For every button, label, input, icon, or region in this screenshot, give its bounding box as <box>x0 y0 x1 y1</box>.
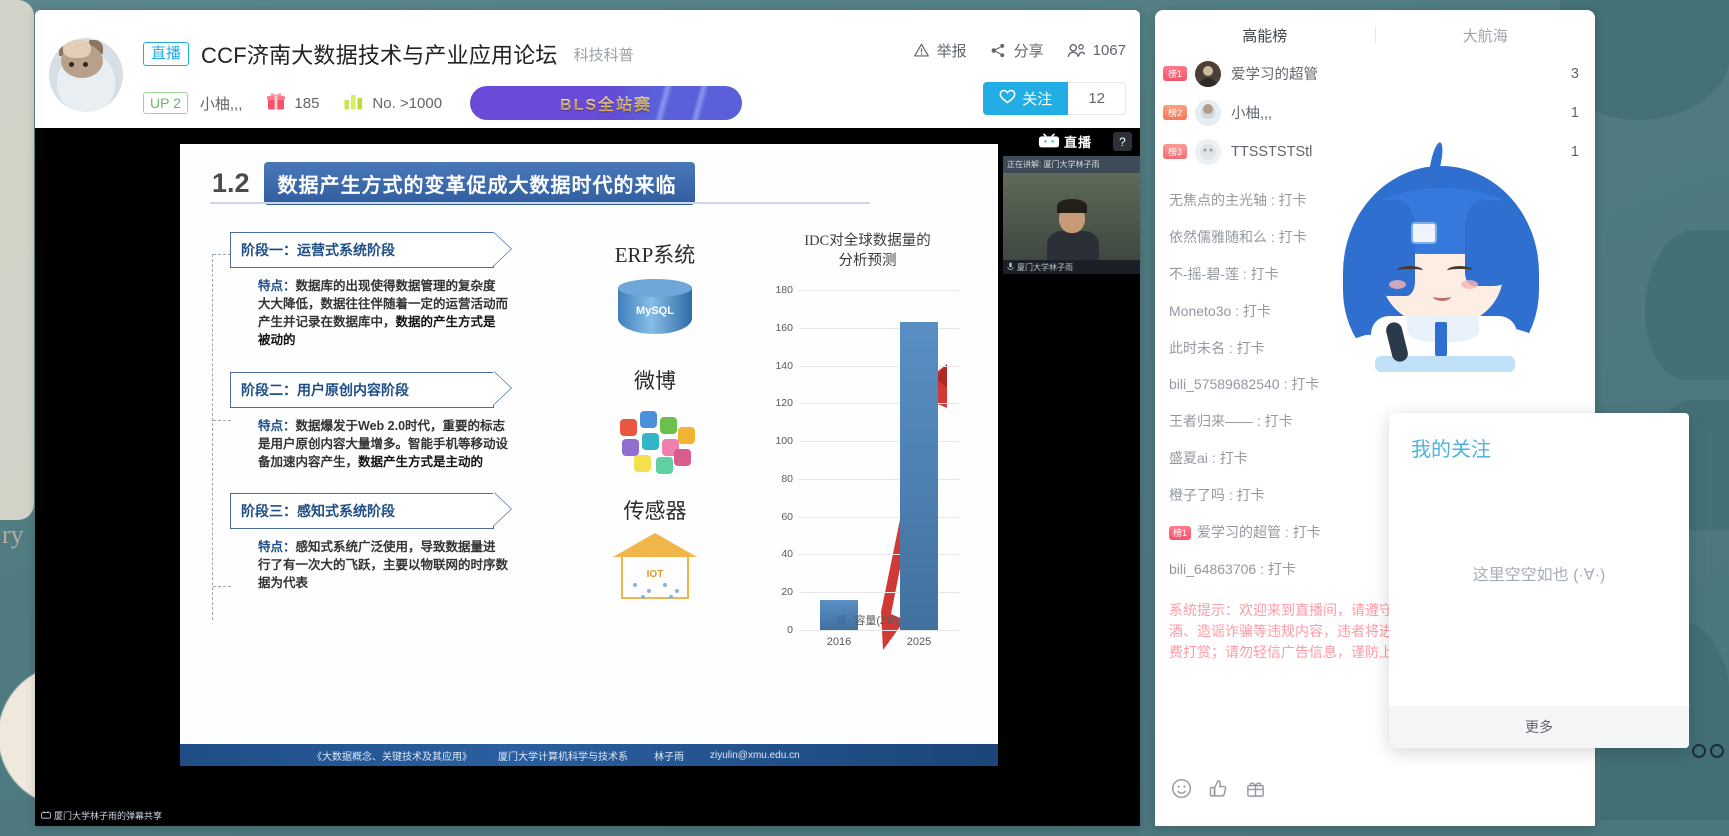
database-label: MySQL <box>618 305 692 317</box>
bilibili-tv-icon <box>1038 133 1060 151</box>
video-player[interactable]: 1.2 数据产生方式的变革促成大数据时代的来临 阶段一：运营式系统阶段 特点：数… <box>35 128 1140 826</box>
stage-chip-prefix: 阶段一： <box>241 242 297 258</box>
rank-tabs: 高能榜 大航海 <box>1155 10 1595 54</box>
chat-text: 打卡 <box>1293 524 1321 540</box>
middle-item-label: 传感器 <box>570 495 740 525</box>
gift-box-icon[interactable] <box>1245 778 1266 804</box>
chart-x-tick: 2025 <box>907 636 931 648</box>
chat-message: bili_57589682540 : 打卡 <box>1169 366 1581 403</box>
bls-campaign-banner[interactable]: BLS全站赛 <box>470 86 742 120</box>
stage-block: 阶段一：运营式系统阶段 特点：数据库的出现使得数据管理的复杂度大大降低，数据往往… <box>230 232 540 350</box>
chart-y-tick: 180 <box>775 284 793 296</box>
chat-user-name[interactable]: 橙子了吗 : <box>1169 487 1237 503</box>
viewer-count: 1067 <box>1066 42 1126 59</box>
chat-user-name[interactable]: 此时未名 : <box>1169 340 1237 356</box>
gift-stat[interactable]: 185 <box>266 92 319 115</box>
chat-user-name[interactable]: 无焦点的主光轴 : <box>1169 192 1279 208</box>
legend-label: 容量(ZB) <box>854 615 897 627</box>
chat-text: 打卡 <box>1291 376 1319 392</box>
live-badge: 直播 <box>143 42 189 67</box>
rank-user-name: 爱学习的超管 <box>1231 63 1571 84</box>
stage-column: 阶段一：运营式系统阶段 特点：数据库的出现使得数据管理的复杂度大大降低，数据往往… <box>230 232 540 608</box>
rank-list: 榜1 爱学习的超管 3 榜2 小柚,,, 1 <box>1155 54 1595 171</box>
thumb-up-icon[interactable] <box>1208 778 1229 804</box>
tab-guard[interactable]: 大航海 <box>1376 25 1596 46</box>
stage-chip: 阶段一：运营式系统阶段 <box>230 232 494 268</box>
rank-text: No. >1000 <box>372 95 442 112</box>
report-button[interactable]: 举报 <box>913 40 967 61</box>
avatar[interactable] <box>1195 139 1221 165</box>
presenter-webcam: 正在讲解: 厦门大学林子雨 厦门大学林子雨 <box>1003 156 1140 274</box>
avatar[interactable] <box>49 38 123 112</box>
slide-title: 数据产生方式的变革促成大数据时代的来临 <box>264 162 695 205</box>
middle-item: 传感器 IOT <box>570 495 740 603</box>
stage-description: 特点：数据库的出现使得数据管理的复杂度大大降低，数据往往伴随着一定的运营活动而产… <box>258 277 508 350</box>
leaf-decoration <box>1645 230 1729 380</box>
page-title: CCF济南大数据技术与产业应用论坛 <box>201 38 558 70</box>
chat-message: 依然儒雅随和么 : 打卡 <box>1169 219 1581 256</box>
tab-high-energy-rank[interactable]: 高能榜 <box>1155 25 1375 46</box>
follow-label: 关注 <box>1022 88 1052 109</box>
chat-user-name[interactable]: bili_57589682540 : <box>1169 376 1291 392</box>
chart-plot-area: 02040608010012014016018020162025 <box>799 290 959 630</box>
up-badge: UP 2 <box>143 92 188 114</box>
chat-message: 此时未名 : 打卡 <box>1169 330 1581 367</box>
rank-value: 3 <box>1571 66 1579 82</box>
flow-tick <box>213 420 231 421</box>
stage-desc-emphasis: 数据产生方式是主动的 <box>358 455 483 469</box>
fans-count: 12 <box>1068 82 1126 115</box>
chat-user-name[interactable]: 爱学习的超管 : <box>1197 524 1293 540</box>
chat-text: 打卡 <box>1243 303 1271 319</box>
iot-label: IOT <box>621 569 689 580</box>
webcam-top-label: 正在讲解: 厦门大学林子雨 <box>1003 156 1140 173</box>
stage-block: 阶段三：感知式系统阶段 特点：感知式系统广泛使用，导致数据量进行了有一次大的飞跃… <box>230 493 540 592</box>
chart-y-tick: 60 <box>781 511 793 523</box>
rank-stat[interactable]: No. >1000 <box>343 92 442 115</box>
stage-chip-prefix: 阶段三： <box>241 503 297 519</box>
viewers-icon <box>1066 42 1086 59</box>
live-room-player-column: 直播 CCF济南大数据技术与产业应用论坛 科技科普 举报 <box>35 10 1140 826</box>
rank-row[interactable]: 榜3 TTSSTSTStl 1 <box>1155 132 1595 171</box>
flow-connector-rail <box>212 254 213 620</box>
stage-desc-key: 特点： <box>258 279 296 293</box>
gift-icon <box>266 92 286 115</box>
rank-user-name: TTSSTSTStl <box>1231 144 1571 160</box>
tv-icon <box>41 811 51 821</box>
idc-forecast-chart: IDC对全球数据量的 分析预测 020406080100120140160180… <box>765 232 970 712</box>
chart-bar <box>900 322 938 630</box>
chat-text: 打卡 <box>1220 450 1248 466</box>
stage-description: 特点：感知式系统广泛使用，导致数据量进行了有一次大的飞跃，主要以物联网的时序数据… <box>258 538 508 592</box>
slide-footer-book: 《大数据概念、关键技术及其应用》 <box>312 748 472 763</box>
chat-user-name[interactable]: 王者归来—— : <box>1169 413 1265 429</box>
chart-y-tick: 40 <box>781 548 793 560</box>
stage-chip: 阶段三：感知式系统阶段 <box>230 493 494 529</box>
chat-text: 打卡 <box>1251 266 1279 282</box>
report-label: 举报 <box>937 40 967 61</box>
legend-swatch <box>837 615 846 624</box>
rank-row[interactable]: 榜1 爱学习的超管 3 <box>1155 54 1595 93</box>
share-button[interactable]: 分享 <box>989 40 1044 61</box>
avatar[interactable] <box>1195 100 1221 126</box>
bilibili-logo-text: 直播 <box>1064 132 1092 151</box>
chat-text: 打卡 <box>1237 340 1265 356</box>
chat-message: Moneto3o : 打卡 <box>1169 293 1581 330</box>
chat-user-name[interactable]: 盛夏ai : <box>1169 450 1220 466</box>
glasses-icon <box>1692 744 1726 760</box>
iot-house-icon: IOT <box>607 533 703 603</box>
left-sticker-text: ry <box>2 520 24 550</box>
chart-title-line2: 分析预测 <box>765 252 970 272</box>
follow-area: 关注 12 <box>983 82 1126 115</box>
slide-footer-author: 林子雨 <box>654 748 684 763</box>
emoji-icon[interactable] <box>1171 778 1192 804</box>
viewer-count-value: 1067 <box>1093 42 1126 59</box>
rank-badge: 榜2 <box>1163 105 1187 120</box>
slide-footer-email: ziyulin@xmu.edu.cn <box>710 750 800 761</box>
chat-text: 打卡 <box>1279 192 1307 208</box>
stage-description: 特点：数据爆发于Web 2.0时代，重要的标志是用户原创内容大量增多。智能手机等… <box>258 417 508 471</box>
chart-gridline <box>799 290 959 291</box>
chart-title-line1: IDC对全球数据量的 <box>765 232 970 252</box>
stage-desc-body: 感知式系统广泛使用，导致数据量进行了有一次大的飞跃，主要以物联网的时序数据为代表 <box>258 540 508 590</box>
popup-title: 我的关注 <box>1411 433 1491 462</box>
left-sticker <box>0 0 34 520</box>
chart-y-tick: 140 <box>775 360 793 372</box>
middle-item-label: 微博 <box>570 365 740 395</box>
chart-title: IDC对全球数据量的 分析预测 <box>765 232 970 271</box>
avatar[interactable] <box>1195 61 1221 87</box>
chart-y-tick: 100 <box>775 435 793 447</box>
stage-chip-label: 感知式系统阶段 <box>297 503 395 519</box>
presentation-slide: 1.2 数据产生方式的变革促成大数据时代的来临 阶段一：运营式系统阶段 特点：数… <box>180 144 998 766</box>
chat-message: 不-摇-碧-莲 : 打卡 <box>1169 256 1581 293</box>
stage-chip-label: 运营式系统阶段 <box>297 242 395 258</box>
slide-footer-dept: 厦门大学计算机科学与技术系 <box>498 748 628 763</box>
stage-desc-key: 特点： <box>258 540 296 554</box>
bar-chart-icon <box>343 92 364 115</box>
stage-chip-label: 用户原创内容阶段 <box>297 382 409 398</box>
slide-footer-bar: 《大数据概念、关键技术及其应用》 厦门大学计算机科学与技术系 林子雨 ziyul… <box>180 744 998 766</box>
database-cylinder-icon: MySQL <box>618 279 692 343</box>
chart-y-tick: 120 <box>775 397 793 409</box>
chat-text: 打卡 <box>1237 487 1265 503</box>
rank-badge: 榜3 <box>1163 144 1187 159</box>
share-icon <box>989 42 1007 59</box>
rank-badge: 榜1 <box>1163 66 1187 81</box>
chat-text: 打卡 <box>1268 561 1296 577</box>
rank-value: 1 <box>1571 105 1579 121</box>
webcam-bottom-label: 厦门大学林子雨 <box>1003 260 1140 274</box>
chat-text: 打卡 <box>1279 229 1307 245</box>
stream-watermark: 厦门大学林子雨的弹幕共享 <box>37 807 166 824</box>
popup-more-button[interactable]: 更多 <box>1389 706 1689 748</box>
popup-empty-state: 这里空空如也 (·∀·) <box>1389 561 1689 585</box>
room-header: 直播 CCF济南大数据技术与产业应用论坛 科技科普 举报 <box>35 10 1140 128</box>
rank-row[interactable]: 榜2 小柚,,, 1 <box>1155 93 1595 132</box>
gift-count: 185 <box>294 95 319 112</box>
follow-button[interactable]: 关注 <box>983 82 1068 115</box>
chat-user-name[interactable]: Moneto3o : <box>1169 303 1243 319</box>
stage-desc-key: 特点： <box>258 419 296 433</box>
middle-item: ERP系统 MySQL <box>570 239 740 343</box>
rank-value: 1 <box>1571 144 1579 160</box>
up-name[interactable]: 小柚,,, <box>200 93 243 114</box>
chat-user-name[interactable]: bili_64863706 : <box>1169 561 1268 577</box>
chart-gridline <box>799 630 959 631</box>
slide-title-underline <box>210 202 870 204</box>
chat-user-badge: 榜1 <box>1169 526 1191 540</box>
header-actions: 举报 分享 <box>913 40 1126 61</box>
my-following-popup[interactable]: 我的关注 这里空空如也 (·∀·) 更多 <box>1389 413 1689 748</box>
middle-item: 微博 <box>570 365 740 479</box>
warning-circle-icon <box>913 42 930 59</box>
flow-tick <box>213 254 231 255</box>
help-button[interactable]: ? <box>1113 132 1132 151</box>
middle-icon-column: ERP系统 MySQL 微博 <box>570 239 740 617</box>
stage-chip-prefix: 阶段二： <box>241 382 297 398</box>
chart-legend: 容量(ZB) <box>765 612 970 628</box>
mic-icon <box>1007 262 1014 273</box>
share-label: 分享 <box>1014 40 1044 61</box>
middle-item-label: ERP系统 <box>570 239 740 269</box>
chart-x-tick: 2016 <box>827 636 851 648</box>
rank-user-name: 小柚,,, <box>1231 102 1571 123</box>
chat-user-name[interactable]: 不-摇-碧-莲 : <box>1169 266 1251 282</box>
chat-text: 打卡 <box>1265 413 1293 429</box>
chat-message: 无焦点的主光轴 : 打卡 <box>1169 182 1581 219</box>
slide-title-row: 1.2 数据产生方式的变革促成大数据时代的来临 <box>212 162 695 205</box>
room-area-tag[interactable]: 科技科普 <box>574 44 634 65</box>
slide-number: 1.2 <box>212 168 250 199</box>
stage-block: 阶段二：用户原创内容阶段 特点：数据爆发于Web 2.0时代，重要的标志是用户原… <box>230 372 540 471</box>
heart-icon <box>999 89 1016 108</box>
stage-chip: 阶段二：用户原创内容阶段 <box>230 372 494 408</box>
chat-toolbar <box>1155 756 1595 826</box>
flow-tick <box>213 586 231 587</box>
bls-banner-text: BLS全站赛 <box>560 91 652 115</box>
chart-y-tick: 80 <box>781 473 793 485</box>
chart-y-tick: 20 <box>781 586 793 598</box>
watermark-text: 厦门大学林子雨的弹幕共享 <box>54 809 162 822</box>
mobile-apps-icon <box>610 401 700 479</box>
chart-y-tick: 160 <box>775 322 793 334</box>
bilibili-live-logo: 直播 <box>1038 132 1092 151</box>
chat-user-name[interactable]: 依然儒雅随和么 : <box>1169 229 1279 245</box>
